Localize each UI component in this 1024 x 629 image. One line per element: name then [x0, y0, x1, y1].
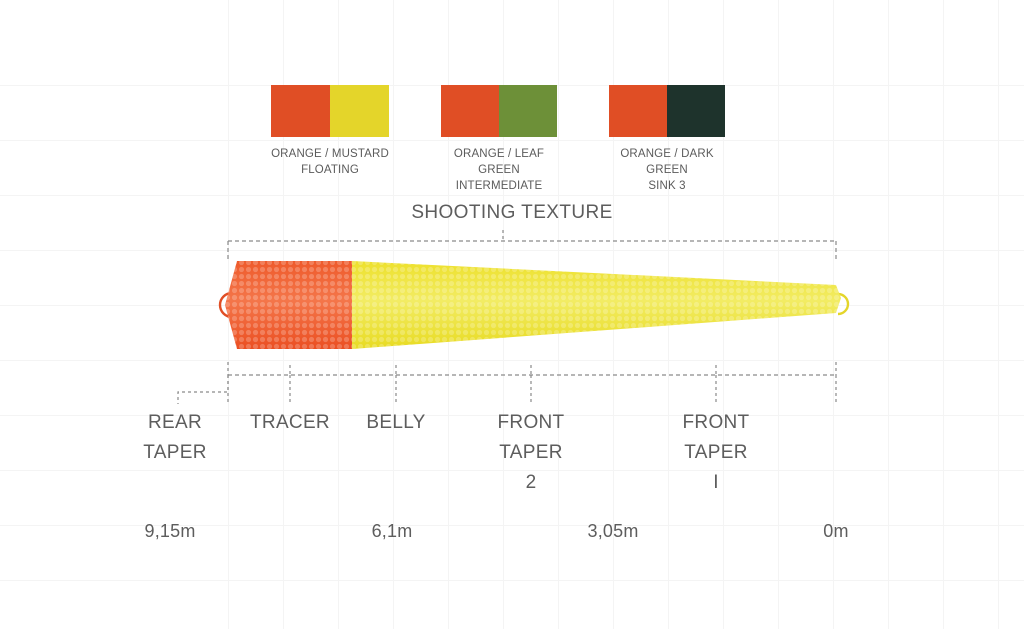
section-label-front-taper-2: FRONT TAPER 2 — [451, 408, 611, 498]
line-body — [220, 255, 850, 355]
distance-label-dist-3-05m: 3,05m — [543, 521, 683, 542]
shooting-texture-pattern — [220, 255, 850, 355]
section-label-front-taper-1: FRONT TAPER I — [636, 408, 796, 498]
top-bracket — [228, 230, 836, 259]
distance-label-dist-9-15m: 9,15m — [100, 521, 240, 542]
fly-line-taper-diagram: ORANGE / MUSTARD FLOATINGORANGE / LEAF G… — [0, 0, 1024, 629]
distance-label-dist-6-1m: 6,1m — [322, 521, 462, 542]
distance-label-dist-0m: 0m — [766, 521, 906, 542]
bottom-bracket — [178, 362, 836, 404]
